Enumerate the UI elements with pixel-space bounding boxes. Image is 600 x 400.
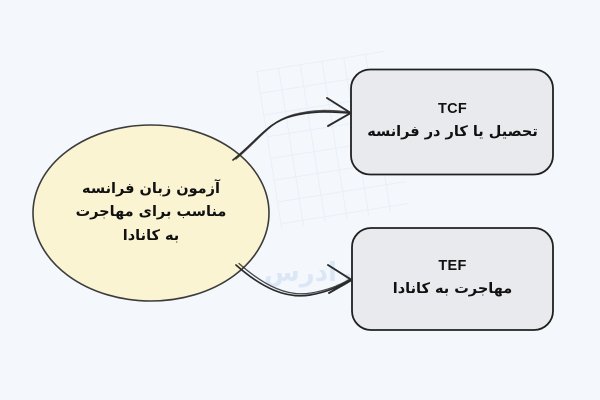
- source-node-ellipse[interactable]: [33, 125, 269, 301]
- arrow-to-tef: [236, 264, 351, 296]
- diagram-graphics: [0, 0, 600, 400]
- tcf-node-box[interactable]: [351, 70, 553, 175]
- arrow-to-tcf: [233, 98, 350, 160]
- diagram-canvas: فرادرس آزمون زبان فرانسه مناسب برای مهاج…: [0, 0, 600, 400]
- tef-node-box[interactable]: [352, 228, 553, 330]
